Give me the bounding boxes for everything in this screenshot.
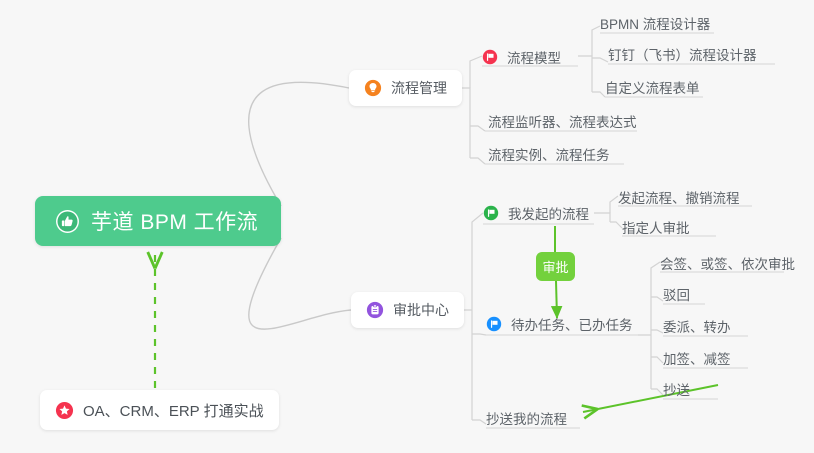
thumbs-up-icon	[55, 209, 80, 234]
node-countersign-label: 会签、或签、依次审批	[660, 253, 795, 273]
node-add-remove-sign-label: 加签、减签	[663, 348, 731, 368]
connector-root-to-process-mgmt	[249, 82, 349, 206]
node-my-processes[interactable]: 我发起的流程	[483, 200, 589, 226]
node-my-processes-label: 我发起的流程	[508, 203, 589, 223]
flag-icon	[486, 316, 502, 332]
node-process-listener-label: 流程监听器、流程表达式	[488, 111, 637, 131]
node-oa-crm-erp-integration[interactable]: OA、CRM、ERP 打通实战	[40, 390, 279, 430]
root-node-label: 芋道 BPM 工作流	[91, 206, 258, 236]
node-approval-center[interactable]: 审批中心	[351, 292, 464, 328]
node-process-model-label: 流程模型	[507, 47, 561, 67]
lightbulb-icon	[364, 79, 382, 97]
node-process-instance-label: 流程实例、流程任务	[488, 144, 610, 164]
connector-model-to-customform	[592, 92, 605, 97]
node-dingtalk-designer-label: 钉钉（飞书）流程设计器	[608, 44, 757, 64]
node-process-instance[interactable]: 流程实例、流程任务	[488, 141, 610, 167]
connector-approval-to-my-processes	[472, 213, 483, 236]
node-countersign[interactable]: 会签、或签、依次审批	[660, 250, 795, 276]
connector-tasks-to-cc	[651, 389, 663, 395]
node-bpmn-designer-label: BPMN 流程设计器	[600, 13, 710, 33]
connector-tasks-to-addsign	[651, 357, 663, 363]
node-pending-done-tasks[interactable]: 待办任务、已办任务	[486, 311, 633, 337]
connector-approval-center-trunk	[449, 236, 472, 420]
connector-process-mgmt-to-model	[470, 56, 482, 88]
connector-approval-to-cc	[472, 420, 486, 424]
connector-my-to-start	[610, 196, 618, 213]
connector-tasks-to-delegate	[651, 330, 663, 333]
node-bpmn-designer[interactable]: BPMN 流程设计器	[600, 10, 710, 36]
star-icon	[55, 401, 74, 420]
node-cc-my-processes-label: 抄送我的流程	[486, 408, 567, 428]
approval-badge: 审批	[536, 252, 575, 281]
connector-model-trunk	[578, 56, 592, 92]
node-process-listener[interactable]: 流程监听器、流程表达式	[488, 108, 637, 134]
node-process-model[interactable]: 流程模型	[482, 44, 561, 70]
connector-tasks-to-reject	[651, 297, 663, 301]
node-designee-approval-label: 指定人审批	[622, 217, 690, 237]
connector-stub-process-listener	[470, 126, 485, 131]
node-dingtalk-designer[interactable]: 钉钉（飞书）流程设计器	[608, 41, 757, 67]
node-custom-form[interactable]: 自定义流程表单	[605, 74, 700, 100]
flag-icon	[482, 49, 498, 65]
node-start-cancel-process-label: 发起流程、撤销流程	[618, 187, 740, 207]
node-delegate-transfer-label: 委派、转办	[663, 316, 731, 336]
node-process-management[interactable]: 流程管理	[349, 70, 462, 106]
node-custom-form-label: 自定义流程表单	[605, 77, 700, 97]
connector-approval-to-tasks	[472, 334, 486, 335]
connector-model-to-bpmn	[592, 26, 600, 56]
connector-tasks-to-countersign	[651, 262, 660, 288]
node-add-remove-sign[interactable]: 加签、减签	[663, 345, 731, 371]
connector-model-to-dingtalk	[592, 58, 608, 62]
node-start-cancel-process[interactable]: 发起流程、撤销流程	[618, 184, 740, 210]
root-node[interactable]: 芋道 BPM 工作流	[35, 196, 281, 246]
node-delegate-transfer[interactable]: 委派、转办	[663, 313, 731, 339]
node-reject-label: 驳回	[663, 284, 690, 304]
node-cc-label: 抄送	[663, 379, 690, 399]
connector-stub-process-instance	[470, 158, 485, 164]
arrow-cc-to-cc-my-processes	[583, 385, 718, 412]
node-approval-center-label: 审批中心	[393, 300, 449, 320]
clipboard-icon	[366, 301, 384, 319]
node-designee-approval[interactable]: 指定人审批	[622, 214, 690, 240]
node-oa-crm-erp-integration-label: OA、CRM、ERP 打通实战	[83, 400, 264, 421]
node-cc[interactable]: 抄送	[663, 376, 690, 402]
node-process-management-label: 流程管理	[391, 78, 447, 98]
node-pending-done-tasks-label: 待办任务、已办任务	[511, 314, 633, 334]
flag-icon	[483, 205, 499, 221]
approval-badge-label: 审批	[542, 257, 568, 276]
connector-my-to-designee	[610, 222, 622, 228]
connector-tasks-trunk	[638, 288, 651, 389]
node-cc-my-processes[interactable]: 抄送我的流程	[486, 405, 567, 431]
mindmap-canvas: 芋道 BPM 工作流 流程管理 流程模型 BPMN 流程设计器 钉钉（飞书）流程…	[0, 0, 814, 453]
connector-root-to-approval-center	[249, 238, 351, 329]
node-reject[interactable]: 驳回	[663, 281, 690, 307]
connector-my-processes-trunk	[594, 213, 610, 222]
